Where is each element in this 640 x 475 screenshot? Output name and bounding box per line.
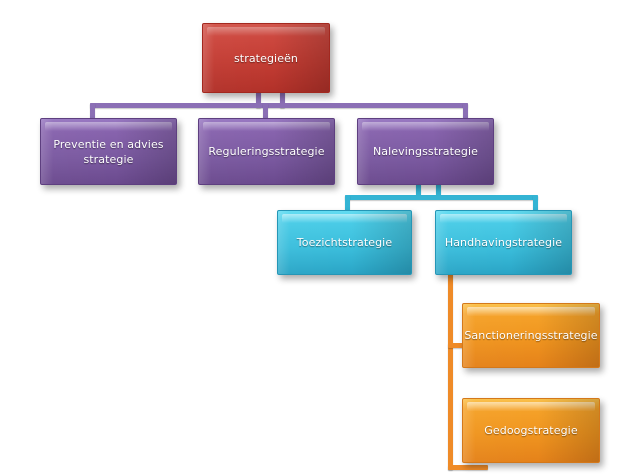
connector-level3-bus [345, 195, 538, 200]
node-handhaving-label: Handhavingstrategie [445, 235, 562, 250]
node-strategieen[interactable]: strategieën [202, 23, 330, 93]
node-naleving-label: Nalevingsstrategie [373, 144, 478, 159]
diagram-canvas: strategieën Preventie en advies strategi… [0, 0, 640, 475]
node-regulering-label: Reguleringsstrategie [208, 144, 324, 159]
node-nalevingsstrategie[interactable]: Nalevingsstrategie [357, 118, 494, 185]
node-reguleringsstrategie[interactable]: Reguleringsstrategie [198, 118, 335, 185]
node-sanctioneringsstrategie[interactable]: Sanctioneringsstrategie [462, 303, 600, 368]
node-toezicht-label: Toezichtstrategie [297, 235, 392, 250]
node-handhavingstrategie[interactable]: Handhavingstrategie [435, 210, 572, 275]
node-preventie-en-advies-strategie[interactable]: Preventie en advies strategie [40, 118, 177, 185]
node-strategieen-label: strategieën [234, 51, 298, 66]
node-gedoogstrategie[interactable]: Gedoogstrategie [462, 398, 600, 463]
connector-level2-bus [90, 103, 468, 108]
node-preventie-label: Preventie en advies strategie [49, 137, 168, 167]
node-gedoog-label: Gedoogstrategie [484, 423, 577, 438]
node-sanctionering-label: Sanctioneringsstrategie [464, 328, 597, 343]
node-toezichtstrategie[interactable]: Toezichtstrategie [277, 210, 412, 275]
connector-handhaving-trunk [448, 272, 453, 470]
connector-to-gedoog [448, 465, 488, 470]
